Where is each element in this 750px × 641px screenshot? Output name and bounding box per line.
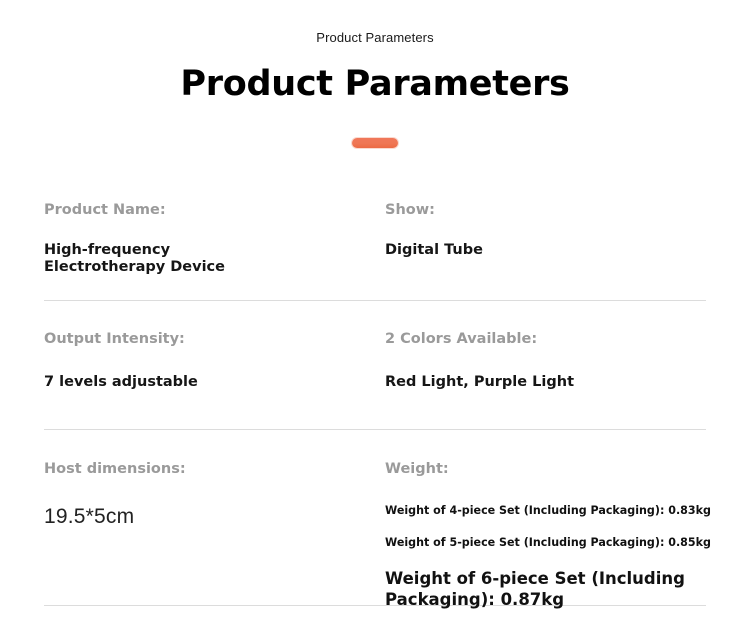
accent-divider-wrap <box>0 138 750 148</box>
parameter-label: Weight: <box>385 459 706 479</box>
parameter-label: Output Intensity: <box>44 329 375 349</box>
parameter-value: 7 levels adjustable <box>44 374 375 391</box>
parameter-label: Product Name: <box>44 200 375 220</box>
parameter-cell-weight: Weight: Weight of 4-piece Set (Including… <box>385 459 706 605</box>
weight-value-list: Weight of 4-piece Set (Including Packagi… <box>385 504 706 610</box>
weight-line-5-piece: Weight of 5-piece Set (Including Packagi… <box>385 536 706 550</box>
product-parameters-page: Product Parameters Product Parameters Pr… <box>0 0 750 641</box>
weight-line-6-piece: Weight of 6-piece Set (Including Packagi… <box>385 568 685 610</box>
page-title: Product Parameters <box>0 60 750 108</box>
parameter-row: Host dimensions: 19.5*5cm Weight: Weight… <box>44 430 706 605</box>
parameters-table: Product Name: High-frequency Electrother… <box>44 200 706 606</box>
parameter-cell-colors-available: 2 Colors Available: Red Light, Purple Li… <box>385 329 706 429</box>
parameter-cell-product-name: Product Name: High-frequency Electrother… <box>44 200 385 300</box>
parameter-value: High-frequency Electrotherapy Device <box>44 242 375 276</box>
parameter-cell-output-intensity: Output Intensity: 7 levels adjustable <box>44 329 385 429</box>
parameter-cell-show: Show: Digital Tube <box>385 200 706 300</box>
parameter-row: Product Name: High-frequency Electrother… <box>44 200 706 300</box>
page-eyebrow-title: Product Parameters <box>0 30 750 45</box>
accent-pill-divider <box>352 138 398 148</box>
parameter-value: Red Light, Purple Light <box>385 374 706 391</box>
parameter-value: 19.5*5cm <box>44 505 375 529</box>
weight-line-4-piece: Weight of 4-piece Set (Including Packagi… <box>385 504 706 518</box>
parameter-value-line: High-frequency Electrotherapy Device <box>44 242 225 275</box>
parameter-cell-host-dimensions: Host dimensions: 19.5*5cm <box>44 459 385 605</box>
parameter-label: 2 Colors Available: <box>385 329 706 349</box>
parameter-label: Host dimensions: <box>44 459 375 479</box>
parameter-row: Output Intensity: 7 levels adjustable 2 … <box>44 301 706 429</box>
parameter-value: Digital Tube <box>385 242 706 259</box>
parameter-label: Show: <box>385 200 706 220</box>
